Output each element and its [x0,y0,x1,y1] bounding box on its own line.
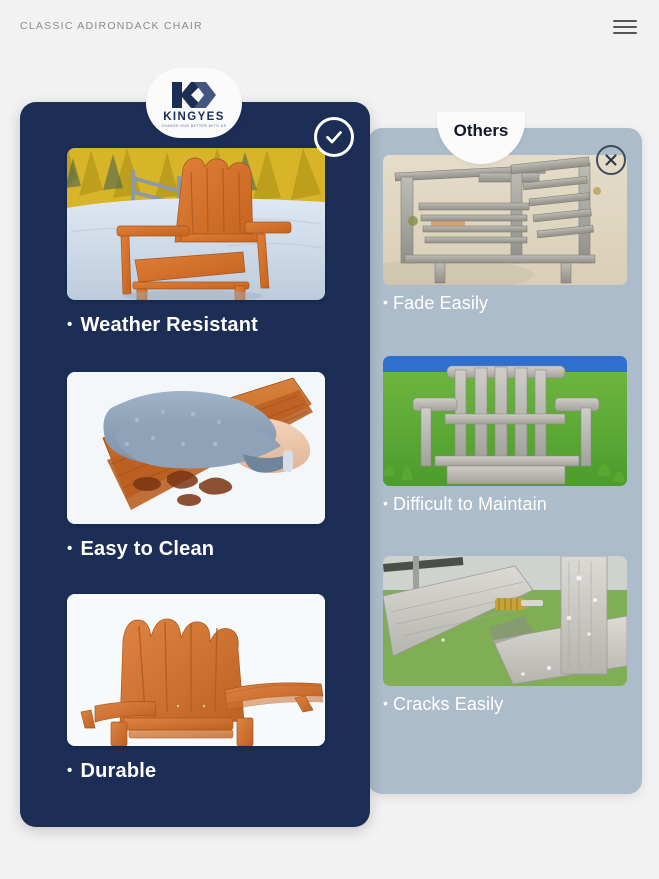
bullet-icon: • [67,540,72,557]
feature-item: •Durable [67,594,325,783]
orange-adirondack-chair-in-snow-photo [67,148,325,300]
others-item-label: •Fade Easily [383,293,627,314]
brand-name: KINGYES [163,111,225,123]
feature-item-label: •Weather Resistant [67,314,325,337]
orange-chair-closeup-photo [67,594,325,746]
x-circle-icon[interactable] [596,145,626,175]
weathered-gray-chair-in-grass-photo [383,356,627,486]
bullet-icon: • [67,316,72,333]
cracked-wet-gray-boards-photo [383,556,627,686]
hand-wiping-chair-with-towel-photo [67,372,325,524]
others-tab-label: Others [454,121,509,141]
others-item: •Cracks Easily [383,556,627,715]
bullet-icon: • [383,495,388,511]
kingyes-k-logo-icon [166,80,222,110]
feature-item: •Easy to Clean [67,372,325,561]
feature-item-label: •Easy to Clean [67,538,325,561]
brand-tagline: CHANGE OUR BETTER WITH US [162,124,227,128]
others-item: •Difficult to Maintain [383,356,627,515]
bullet-icon: • [383,294,388,310]
bullet-icon: • [67,762,72,779]
check-circle-icon[interactable] [314,117,354,157]
feature-item-label: •Durable [67,760,325,783]
comparison-stage: •Fade Easily [0,0,659,879]
bullet-icon: • [383,695,388,711]
feature-item: •Weather Resistant [67,148,325,337]
brand-logo-tab[interactable]: KINGYES CHANGE OUR BETTER WITH US [146,68,242,138]
kingyes-feature-card: •Weather Resistant [20,102,370,827]
faded-gray-bench-on-sand-photo [383,155,627,285]
others-card: •Fade Easily [368,128,642,794]
others-item-label: •Cracks Easily [383,694,627,715]
others-item-label: •Difficult to Maintain [383,494,627,515]
others-item: •Fade Easily [383,155,627,314]
